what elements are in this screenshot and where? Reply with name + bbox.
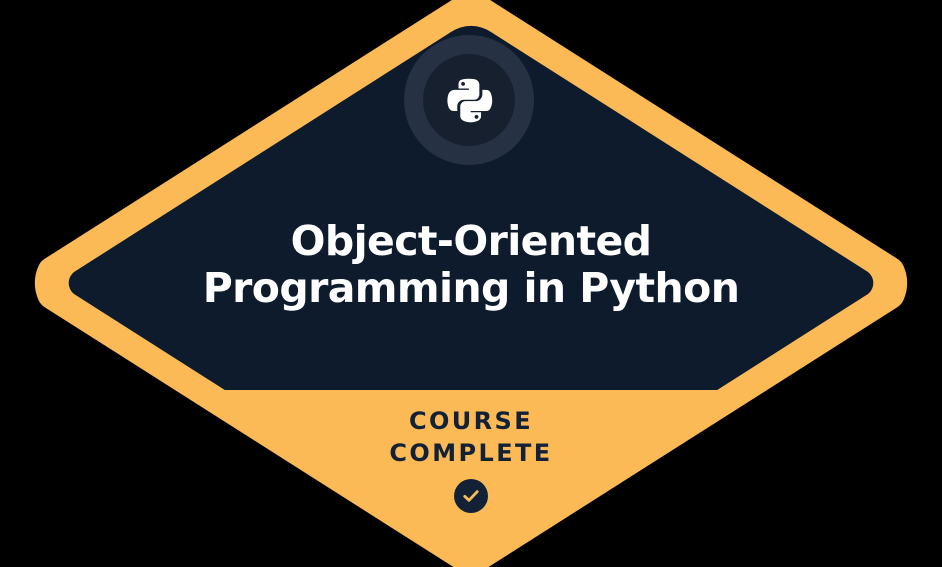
python-logo-icon [445,76,493,124]
course-title-line-2: Programming in Python [0,265,942,312]
status-label-line-2: COMPLETE [0,437,942,469]
course-title-line-1: Object-Oriented [0,218,942,265]
check-circle-icon [454,479,488,513]
badge-canvas: Object-Oriented Programming in Python CO… [0,0,942,567]
course-title: Object-Oriented Programming in Python [0,218,942,312]
completion-status: COURSE COMPLETE [0,405,942,513]
python-emblem [404,35,534,165]
status-label: COURSE COMPLETE [0,405,942,469]
status-label-line-1: COURSE [0,405,942,437]
